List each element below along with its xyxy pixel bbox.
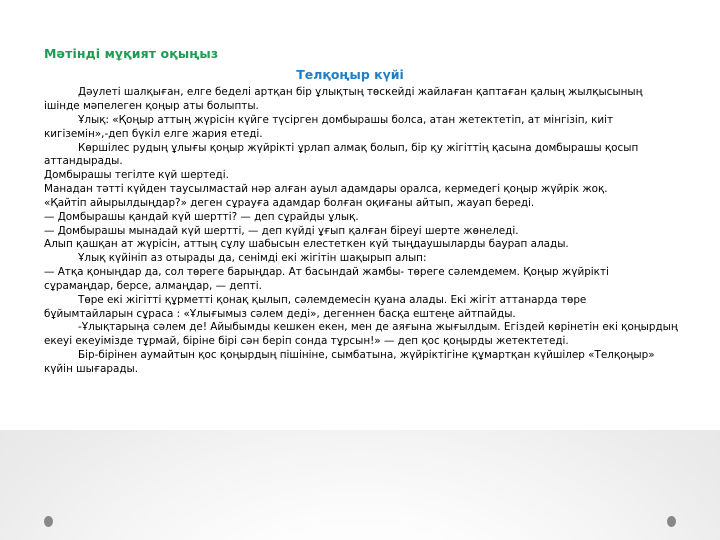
paragraph: Алып қашқан ат жүрісін, аттың сұлу шабыс… bbox=[44, 238, 678, 252]
dialogue-line: — Домбырашы мынадай күй шертті, — деп кү… bbox=[44, 225, 678, 239]
bottom-left-dot-icon bbox=[44, 516, 53, 527]
paragraph: -Ұлықтарыңа сәлем де! Айыбымды кешкен ек… bbox=[44, 321, 678, 349]
dialogue-line: — Домбырашы қандай күй шертті? — деп сұр… bbox=[44, 211, 678, 225]
paragraph: Ұлық күйініп аз отырады да, сенімді екі … bbox=[44, 252, 678, 266]
paragraph: Дәулеті шалқыған, елге беделі артқан бір… bbox=[44, 86, 678, 114]
slide-subtitle: Телқоңыр күйі bbox=[44, 67, 678, 83]
bottom-right-dot-icon bbox=[667, 516, 676, 527]
paragraph: Ұлық: «Қоңыр аттың жүрісін күйге түсірге… bbox=[44, 114, 678, 142]
slide-content: Мәтінді мұқият оқыңыз Телқоңыр күйі Дәул… bbox=[44, 46, 678, 377]
paragraph: Манадан тәтті күйден таусылмастай нәр ал… bbox=[44, 183, 678, 197]
paragraph: Домбырашы тегілте күй шертеді. bbox=[44, 169, 678, 183]
paragraph: Бір-бірінен аумайтын қос қоңырдың пішіні… bbox=[44, 349, 678, 377]
slide-canvas: Мәтінді мұқият оқыңыз Телқоңыр күйі Дәул… bbox=[0, 0, 720, 540]
paragraph: Төре екі жігітті құрметті қонақ қылып, с… bbox=[44, 294, 678, 322]
paragraph: Көршілес рудың ұлығы қоңыр жүйрікті ұрла… bbox=[44, 142, 678, 170]
dialogue-line: — Атқа қоныңдар да, сол төреге барыңдар.… bbox=[44, 266, 678, 294]
slide-heading: Мәтінді мұқият оқыңыз bbox=[44, 46, 678, 62]
slide-body-text: Дәулеті шалқыған, елге беделі артқан бір… bbox=[44, 86, 678, 376]
paragraph: «Қайтіп айырылдыңдар?» деген сұрауға ада… bbox=[44, 197, 678, 211]
